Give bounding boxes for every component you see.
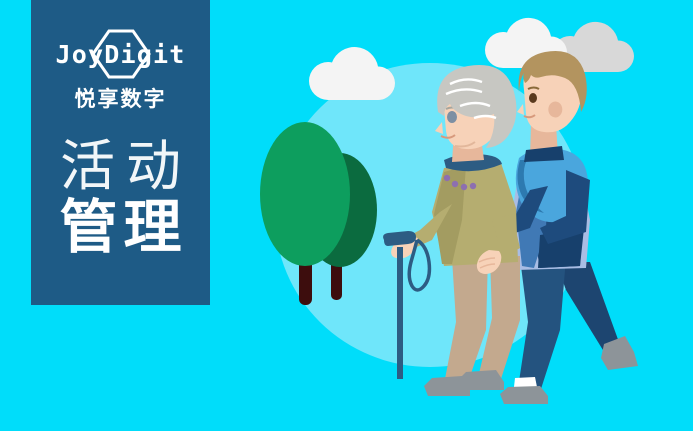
brand-wordmark: JoyDigit — [55, 42, 185, 67]
woman-eye — [447, 111, 457, 123]
man-ear — [548, 101, 562, 117]
brand-subtitle: 悦享数字 — [75, 89, 167, 110]
cane-shaft — [397, 247, 403, 379]
page-title-line2: 管理 — [53, 198, 187, 259]
poster-canvas: JoyDigit 悦享数字 活动 管理 — [0, 0, 693, 431]
man-front-shoe — [500, 386, 548, 404]
man-eye — [529, 93, 537, 103]
page-title-line1: 活动 — [49, 138, 192, 196]
page-title: 活动 管理 — [49, 138, 192, 259]
activity-management-panel: JoyDigit 悦享数字 活动 管理 — [31, 0, 210, 305]
brand-logo: JoyDigit — [45, 26, 197, 82]
